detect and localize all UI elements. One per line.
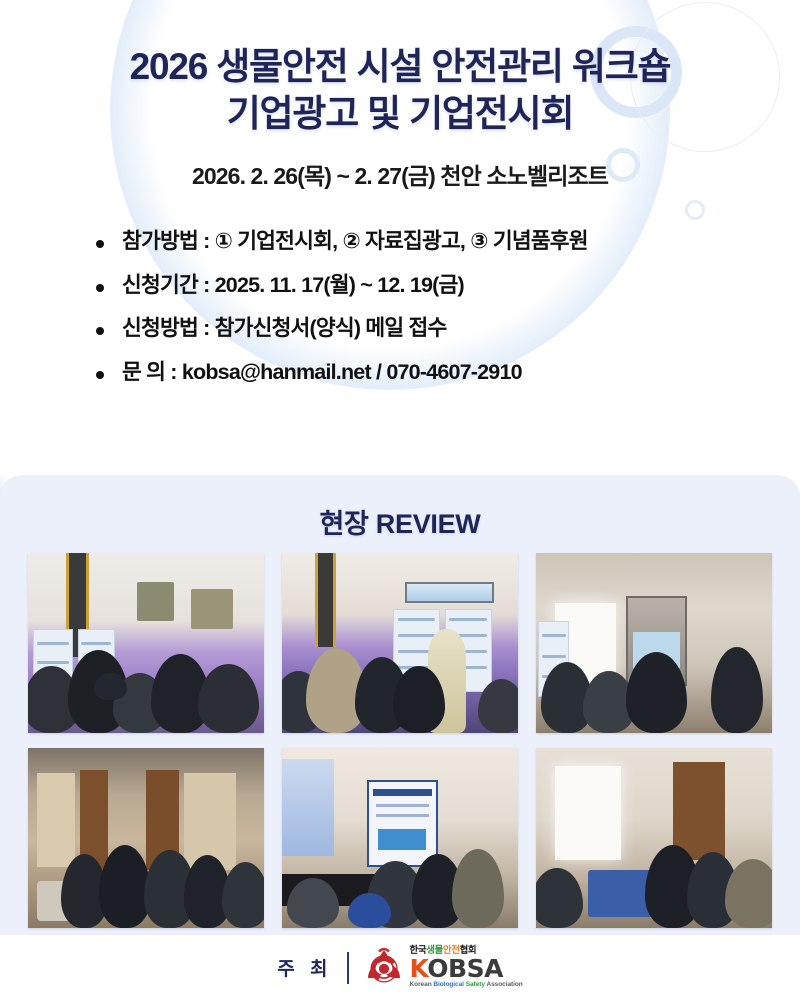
kobsa-eng-1: Korean xyxy=(410,981,434,988)
kobsa-eng-3: Safety xyxy=(466,981,487,988)
kobsa-eng-2: Biological xyxy=(433,981,465,988)
bullet-dot-icon xyxy=(96,371,104,379)
photo-attendees xyxy=(282,842,518,928)
photo-attendees xyxy=(28,842,264,928)
kobsa-english-name: Korean Biological Safety Association xyxy=(410,982,523,989)
photo-attendees xyxy=(282,647,518,733)
title-line-2: 기업광고 및 기업전시회 xyxy=(18,91,782,138)
photo-equipment xyxy=(137,582,175,622)
bullet-dot-icon xyxy=(96,327,104,335)
bullet-dot-icon xyxy=(96,240,104,248)
bullet-text: 신청기간 : 2025. 11. 17(월) ~ 12. 19(금) xyxy=(122,273,464,297)
review-heading: 현장 REVIEW xyxy=(0,475,800,541)
photo-attendees xyxy=(28,647,264,733)
kobsa-wordmark-rest: OBSA xyxy=(427,954,503,983)
footer-divider xyxy=(347,952,349,984)
list-item-contact: 문 의 : kobsa@hanmail.net / 070-4607-2910 xyxy=(96,362,800,384)
review-photo xyxy=(282,748,518,928)
kobsa-eng-4: Association xyxy=(486,981,522,988)
photo-attendees xyxy=(536,647,772,733)
title-line-1: 2026 생물안전 시설 안전관리 워크숍 xyxy=(130,46,671,87)
photo-signage xyxy=(405,582,495,604)
biohazard-icon xyxy=(363,947,405,989)
review-photo xyxy=(28,553,264,733)
bullet-text: 신청방법 : 참가신청서(양식) 메일 접수 xyxy=(122,316,446,340)
review-photo-grid xyxy=(28,553,772,928)
photo-shelf xyxy=(315,553,336,647)
kobsa-wordmark: KOBSA xyxy=(410,957,523,981)
photo-equipment xyxy=(191,589,233,629)
list-item-application-period: 신청기간 : 2025. 11. 17(월) ~ 12. 19(금) xyxy=(96,275,800,297)
bullet-dot-icon xyxy=(96,284,104,292)
host-label: 주 최 xyxy=(277,954,332,981)
review-photo xyxy=(282,553,518,733)
kobsa-logo-text: 한국생물안전협회 KOBSA Korean Biological Safety … xyxy=(410,946,523,989)
bullet-text: 참가방법 : ① 기업전시회, ② 자료집광고, ③ 기념품후원 xyxy=(122,229,588,253)
page-title: 2026 생물안전 시설 안전관리 워크숍 기업광고 및 기업전시회 xyxy=(0,44,800,137)
kobsa-wordmark-k: K xyxy=(410,954,428,983)
footer-host-bar: 주 최 한국생물안전협회 KOBSA xyxy=(0,935,800,1000)
list-item-participation: 참가방법 : ① 기업전시회, ② 자료집광고, ③ 기념품후원 xyxy=(96,231,800,253)
photo-attendees xyxy=(536,842,772,928)
event-date-venue: 2026. 2. 26(목) ~ 2. 27(금) 천안 소노벨리조트 xyxy=(0,157,800,191)
list-item-application-method: 신청방법 : 참가신청서(양식) 메일 접수 xyxy=(96,318,800,340)
poster-page: 2026 생물안전 시설 안전관리 워크숍 기업광고 및 기업전시회 2026.… xyxy=(0,0,800,1000)
review-photo xyxy=(28,748,264,928)
kobsa-logo: 한국생물안전협회 KOBSA Korean Biological Safety … xyxy=(363,946,523,989)
bullet-text: 문 의 : kobsa@hanmail.net / 070-4607-2910 xyxy=(122,360,522,384)
hero-section: 2026 생물안전 시설 안전관리 워크숍 기업광고 및 기업전시회 2026.… xyxy=(0,0,800,191)
review-photo xyxy=(536,553,772,733)
info-bullet-list: 참가방법 : ① 기업전시회, ② 자료집광고, ③ 기념품후원 신청기간 : … xyxy=(0,231,800,383)
review-section: 현장 REVIEW xyxy=(0,475,800,935)
review-photo xyxy=(536,748,772,928)
